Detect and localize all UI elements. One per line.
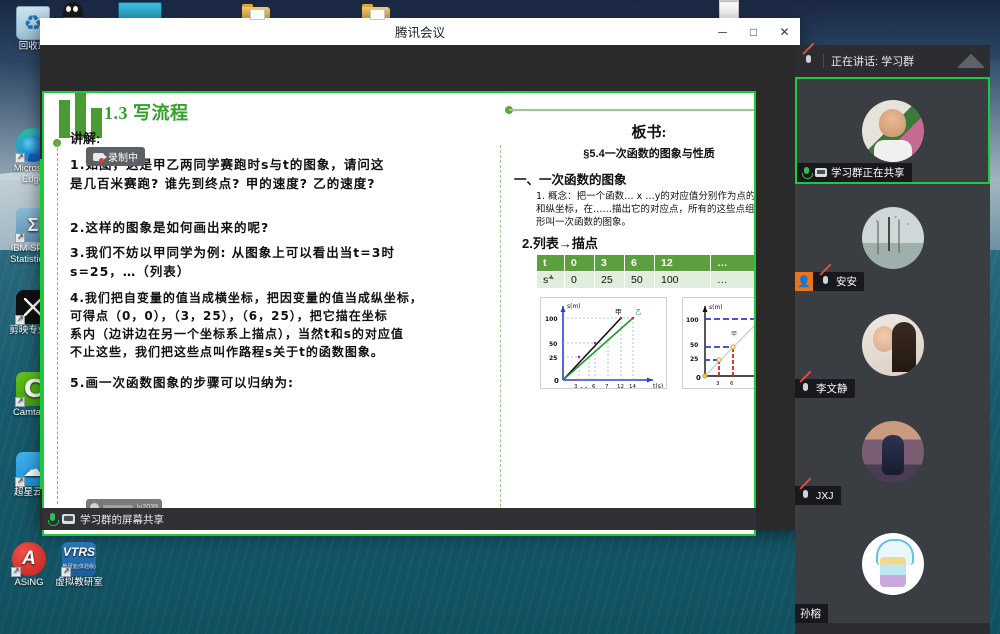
participant-name: 孙榕 bbox=[800, 606, 821, 621]
window-controls: ─ □ ✕ bbox=[707, 18, 800, 45]
cell-t-2: 6 bbox=[625, 255, 655, 272]
participant-name: 李文静 bbox=[816, 381, 848, 396]
svg-text:s(m): s(m) bbox=[567, 303, 581, 310]
screen-share-icon bbox=[815, 168, 827, 177]
board-dashed-divider bbox=[500, 145, 501, 512]
board-heading: 板书: bbox=[509, 121, 754, 142]
svg-text:3: 3 bbox=[574, 384, 578, 388]
participant-name: 学习群正在共享 bbox=[831, 165, 905, 180]
participant-name: 安安 bbox=[836, 274, 857, 289]
table-row-t: t 0 3 6 12 … bbox=[537, 255, 755, 272]
svg-text:25: 25 bbox=[549, 355, 557, 362]
participant-tag: JXJ bbox=[795, 486, 841, 505]
cell-t-header: t bbox=[537, 255, 565, 272]
participant-tile-sunrong[interactable]: 孙榕 bbox=[795, 505, 990, 623]
svg-text:乙: 乙 bbox=[635, 308, 642, 316]
participant-name: JXJ bbox=[816, 490, 834, 502]
svg-text:甲: 甲 bbox=[731, 331, 737, 338]
cell-t-0: 0 bbox=[565, 255, 595, 272]
board-concept-text: 1. 概念：把一个函数… x …y的对应值分别作为点的横坐标和纵坐标，在……描出… bbox=[536, 190, 754, 229]
host-badge-icon bbox=[795, 272, 813, 291]
participant-tile-study-group[interactable]: 学习群正在共享 bbox=[795, 77, 990, 184]
board-step-2: 2.列表→描点 bbox=[522, 233, 598, 252]
presentation-slide: 1.3 写流程 讲解: 1.如图，这是甲乙两同学赛跑时s与t的图象，请问这 是几… bbox=[44, 93, 754, 534]
document-icon[interactable] bbox=[718, 0, 742, 20]
avatar bbox=[862, 533, 924, 595]
screen-share-icon bbox=[62, 514, 75, 524]
window-body: 您正在共享屏幕 1.3 写流程 讲解: 1.如图，这是甲乙两同学赛跑时s bbox=[40, 71, 800, 530]
svg-text:3.5: 3.5 bbox=[580, 387, 588, 388]
svg-text:25: 25 bbox=[690, 356, 698, 363]
participant-tag: 学习群正在共享 bbox=[797, 163, 912, 182]
svg-text:50: 50 bbox=[690, 342, 698, 349]
svg-text:0: 0 bbox=[696, 374, 701, 382]
svg-text:14: 14 bbox=[629, 384, 636, 388]
svg-text:50: 50 bbox=[549, 341, 557, 348]
participants-panel: 正在讲话: 学习群 学习群正在共享 安安 李文静 bbox=[795, 45, 990, 634]
recording-badge: 录制中 bbox=[86, 147, 145, 166]
divider bbox=[823, 54, 824, 68]
asing-icon bbox=[12, 542, 46, 576]
participant-tag: 李文静 bbox=[795, 379, 855, 398]
svg-text:s(m): s(m) bbox=[709, 304, 723, 311]
participant-tile-anan[interactable]: 安安 bbox=[795, 184, 990, 291]
desktop-icon-label: 虚拟教研室 bbox=[50, 578, 108, 589]
microphone-icon[interactable] bbox=[48, 513, 57, 526]
timeline-dashed-line bbox=[57, 143, 58, 504]
minimize-button[interactable]: ─ bbox=[707, 18, 738, 45]
svg-text:3: 3 bbox=[716, 381, 720, 387]
svg-text:12: 12 bbox=[617, 384, 624, 388]
cell-s-0: 0 bbox=[565, 272, 595, 289]
slide-paragraph-5: 5.画一次函数图象的步骤可以归纳为: bbox=[70, 373, 470, 392]
svg-text:0: 0 bbox=[554, 377, 559, 385]
board-top-rule bbox=[509, 109, 754, 111]
maximize-button[interactable]: □ bbox=[738, 18, 769, 45]
cell-t-4: … bbox=[711, 255, 755, 272]
svg-text:100: 100 bbox=[686, 317, 699, 324]
svg-text:6: 6 bbox=[592, 384, 596, 388]
svg-text:100: 100 bbox=[545, 316, 558, 323]
mouse-cursor-icon bbox=[548, 274, 555, 284]
cell-s-2: 50 bbox=[625, 272, 655, 289]
slide-paragraph-3: 3.我们不妨以甲同学为例: 从图象上可以看出当t=3时 s=25，…（列表） bbox=[70, 243, 470, 281]
shared-screen-area: 1.3 写流程 讲解: 1.如图，这是甲乙两同学赛跑时s与t的图象，请问这 是几… bbox=[42, 91, 756, 536]
slide-paragraph-2: 2.这样的图象是如何画出来的呢? bbox=[70, 218, 470, 237]
cell-s-4: … bbox=[711, 272, 755, 289]
window-toolbar-strip bbox=[40, 45, 800, 71]
share-footer-label: 学习群的屏幕共享 bbox=[80, 512, 164, 527]
board-subheading-1: 一、一次函数的图象 bbox=[514, 169, 627, 188]
table-row-s: s 0 25 50 100 … bbox=[537, 272, 755, 289]
svg-text:7: 7 bbox=[605, 384, 609, 388]
mic-muted-icon bbox=[800, 382, 812, 396]
mic-muted-icon bbox=[800, 489, 812, 503]
participant-tag: 孙榕 bbox=[795, 604, 828, 623]
tencent-meeting-logo-icon bbox=[958, 53, 984, 68]
tencent-meeting-window: 腾讯会议 ─ □ ✕ 您正在共享屏幕 bbox=[40, 18, 800, 530]
microphone-icon bbox=[802, 166, 811, 179]
mic-muted-icon bbox=[803, 54, 816, 68]
avatar bbox=[862, 314, 924, 376]
avatar bbox=[862, 100, 924, 162]
avatar bbox=[862, 207, 924, 269]
svg-text:甲: 甲 bbox=[615, 308, 622, 316]
cell-t-1: 3 bbox=[595, 255, 625, 272]
recording-dot-icon bbox=[99, 158, 104, 163]
window-title: 腾讯会议 bbox=[40, 22, 800, 41]
slide-lead-label: 讲解: bbox=[70, 128, 100, 147]
recording-label: 录制中 bbox=[108, 149, 138, 164]
cell-t-3: 12 bbox=[655, 255, 711, 272]
mic-muted-icon bbox=[820, 275, 832, 289]
svg-text:6: 6 bbox=[730, 381, 734, 387]
chart-race-two-runners: s(m) t(s) 0 100 50 25 bbox=[540, 297, 667, 389]
desktop-icon-virtual-teaching-room[interactable]: VTRS教研室(体验版) 虚拟教研室 bbox=[50, 542, 108, 589]
board-section-title: §5.4一次函数的图象与性质 bbox=[509, 145, 754, 161]
table-t-s-values: t 0 3 6 12 … s 0 25 50 100 bbox=[536, 254, 754, 289]
participant-tag: 安安 bbox=[795, 272, 864, 291]
cell-s-header: s bbox=[537, 272, 565, 289]
cell-s-3: 100 bbox=[655, 272, 711, 289]
cell-s-1: 25 bbox=[595, 272, 625, 289]
slide-paragraph-4: 4.我们把自变量的值当成横坐标，把因变量的值当成纵坐标， 可得点（0，0），（3… bbox=[70, 289, 480, 361]
close-button[interactable]: ✕ bbox=[769, 18, 800, 45]
speaking-label: 正在讲话: 学习群 bbox=[831, 53, 914, 69]
virtual-teaching-room-icon: VTRS教研室(体验版) bbox=[62, 542, 96, 576]
participant-tile-jxj[interactable]: JXJ bbox=[795, 398, 990, 505]
participant-tile-liwenjing[interactable]: 李文静 bbox=[795, 291, 990, 398]
slide-title: 1.3 写流程 bbox=[104, 99, 189, 125]
window-title-bar[interactable]: 腾讯会议 ─ □ ✕ bbox=[40, 18, 800, 45]
avatar bbox=[862, 421, 924, 483]
speaking-status-bar: 正在讲话: 学习群 bbox=[795, 45, 990, 77]
screen: 回收站 Microsoft Edge IBM SPSS Statistics 2… bbox=[0, 0, 1000, 634]
share-footer-bar: 学习群的屏幕共享 bbox=[42, 508, 756, 530]
svg-text:t(s): t(s) bbox=[653, 383, 663, 388]
chart-plot-points: s(m) t(s) 0 100 50 25 bbox=[682, 297, 754, 389]
